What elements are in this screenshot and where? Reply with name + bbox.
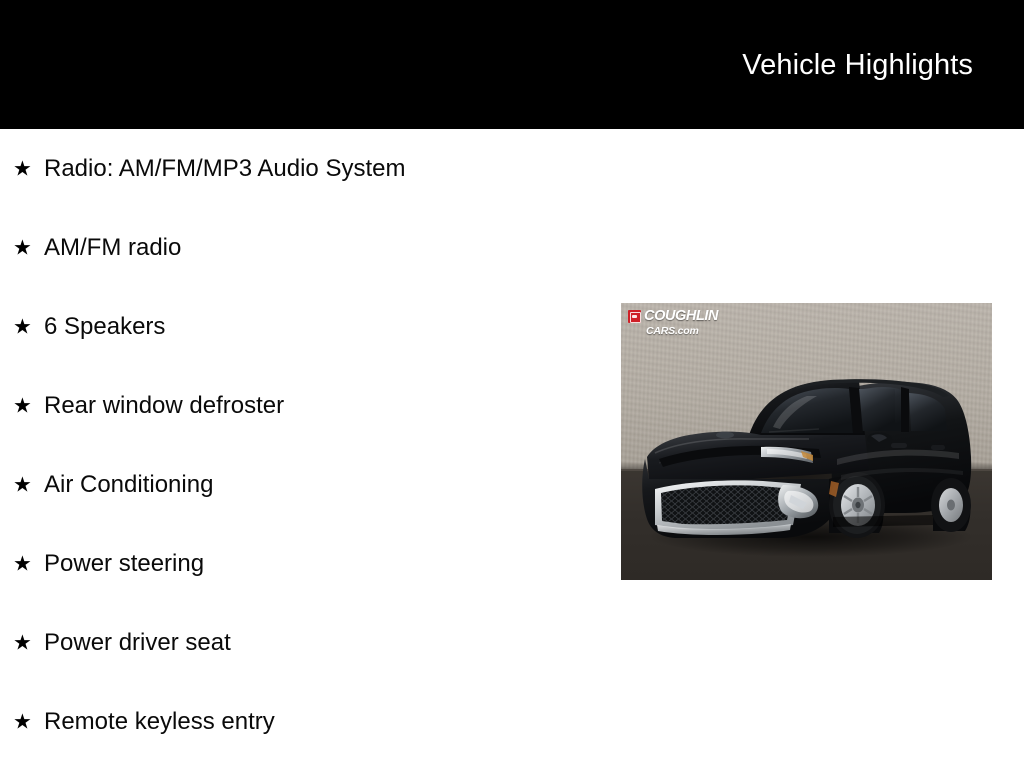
- list-item-label: Radio: AM/FM/MP3 Audio System: [44, 157, 405, 181]
- star-bullet-icon: ★: [13, 711, 32, 732]
- star-bullet-icon: ★: [13, 553, 32, 574]
- page-title: Vehicle Highlights: [742, 49, 973, 82]
- star-bullet-icon: ★: [13, 237, 32, 258]
- list-item: ★ Power driver seat: [0, 603, 600, 682]
- vehicle-highlights-list: ★ Radio: AM/FM/MP3 Audio System ★ AM/FM …: [0, 129, 600, 761]
- list-item-label: AM/FM radio: [44, 236, 181, 260]
- list-item-label: Power driver seat: [44, 631, 231, 655]
- list-item: ★ Radio: AM/FM/MP3 Audio System: [0, 129, 600, 208]
- list-item-label: Air Conditioning: [44, 473, 213, 497]
- list-item: ★ AM/FM radio: [0, 208, 600, 287]
- star-bullet-icon: ★: [13, 158, 32, 179]
- list-item-label: Power steering: [44, 552, 204, 576]
- list-item-label: 6 Speakers: [44, 315, 165, 339]
- list-item: ★ Rear window defroster: [0, 366, 600, 445]
- header-bar: Vehicle Highlights: [0, 0, 1024, 129]
- star-bullet-icon: ★: [13, 474, 32, 495]
- list-item: ★ 6 Speakers: [0, 287, 600, 366]
- list-item-label: Remote keyless entry: [44, 710, 275, 734]
- list-item: ★ Power steering: [0, 524, 600, 603]
- list-item-label: Rear window defroster: [44, 394, 284, 418]
- list-item: ★ Air Conditioning: [0, 445, 600, 524]
- star-bullet-icon: ★: [13, 395, 32, 416]
- star-bullet-icon: ★: [13, 316, 32, 337]
- vehicle-photo: COUGHLIN CARS.com: [621, 303, 992, 580]
- list-item: ★ Remote keyless entry: [0, 682, 600, 761]
- vehicle-image-kia-soul: [633, 339, 985, 559]
- star-bullet-icon: ★: [13, 632, 32, 653]
